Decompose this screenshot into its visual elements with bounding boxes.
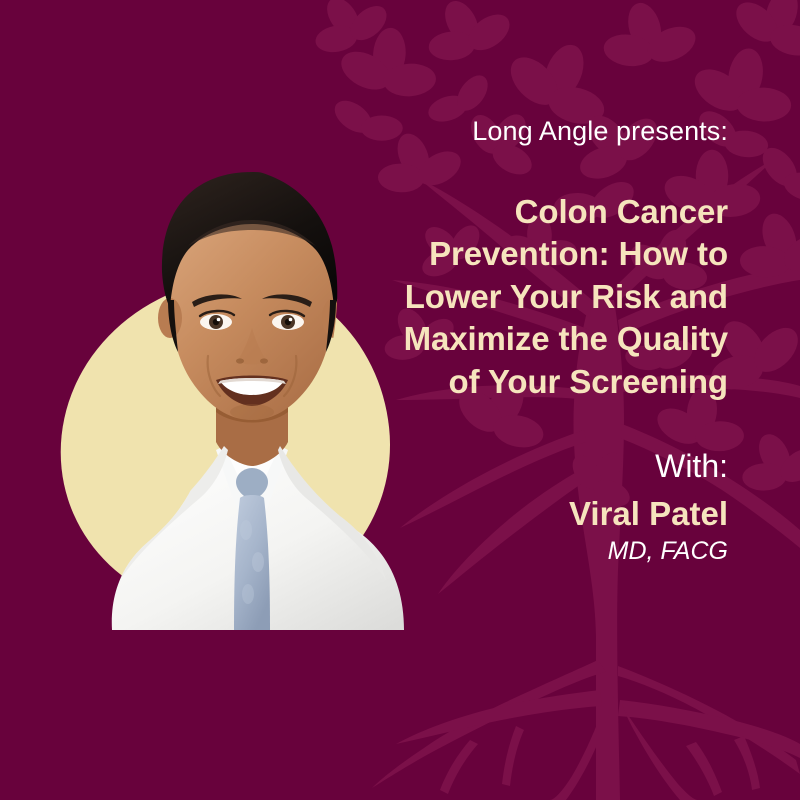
page-title: Colon Cancer Prevention: How to Lower Yo… <box>380 191 728 403</box>
with-label: With: <box>380 447 728 485</box>
webinar-promo-poster: Long Angle presents: Colon Cancer Preven… <box>0 0 800 800</box>
title-line-2: Prevention: How to <box>380 233 728 275</box>
poster-text-block: Long Angle presents: Colon Cancer Preven… <box>380 0 728 800</box>
speaker-name: Viral Patel <box>380 494 728 534</box>
title-line-4: Maximize the Quality <box>380 318 728 360</box>
speaker-credentials: MD, FACG <box>380 536 728 566</box>
title-line-1: Colon Cancer <box>380 191 728 233</box>
title-line-3: Lower Your Risk and <box>380 276 728 318</box>
title-line-5: of Your Screening <box>380 361 728 403</box>
presenter-eyebrow: Long Angle presents: <box>380 115 728 147</box>
